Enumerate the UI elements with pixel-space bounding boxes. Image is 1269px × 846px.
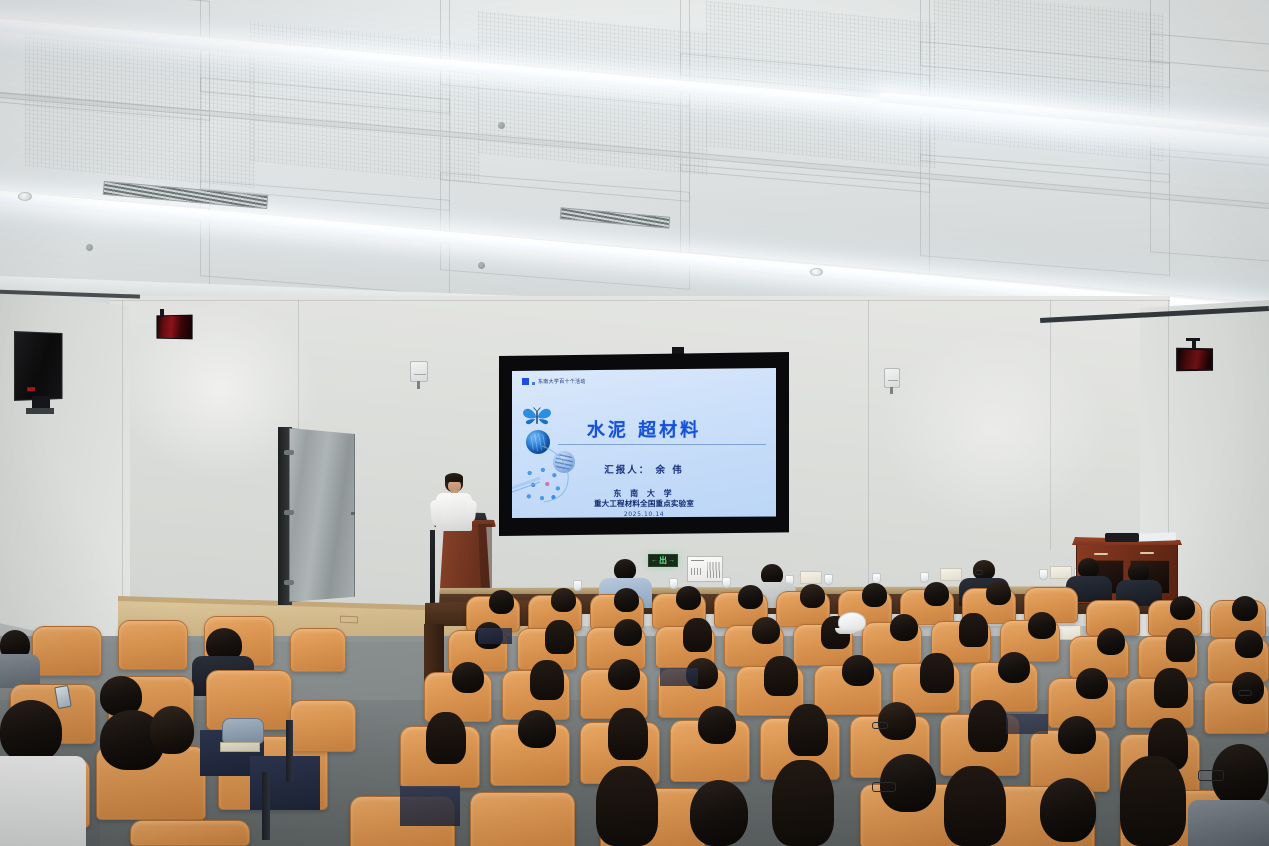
audience-head xyxy=(1097,628,1125,655)
tissue-box xyxy=(800,571,822,584)
auditorium-seat[interactable] xyxy=(118,620,188,670)
exit-arrow-right-icon: → xyxy=(668,557,675,564)
audience-shoulders xyxy=(0,654,40,688)
teacup[interactable] xyxy=(669,578,678,589)
audience-head xyxy=(800,584,825,608)
audience-head xyxy=(608,659,640,690)
seat-leg xyxy=(286,720,293,782)
audience-head-long-hair xyxy=(426,712,466,764)
wall-speaker-stage-right xyxy=(884,368,900,388)
led-mount-right xyxy=(1192,340,1196,349)
exit-arrow-left-icon: ← xyxy=(651,557,658,564)
cabinet-handle[interactable] xyxy=(1094,553,1108,555)
sprinkler-head-3 xyxy=(478,262,485,269)
audience-head xyxy=(924,582,949,606)
audience-head xyxy=(1232,596,1258,621)
audience-shoulders xyxy=(0,756,86,846)
audience-head xyxy=(1028,612,1056,639)
ceiling-dome-light-3 xyxy=(810,268,823,276)
slide-laboratory: 重大工程材料全国重点实验室 xyxy=(512,498,776,509)
audience-head-long-hair xyxy=(545,620,574,654)
audience-head-long-hair xyxy=(530,660,564,700)
exit-sign: ← 出 → xyxy=(648,554,678,567)
audience-head-long-hair xyxy=(1154,668,1188,708)
notebook xyxy=(220,742,260,752)
notice-board xyxy=(687,556,723,582)
audience-head-long-hair xyxy=(1166,628,1195,662)
audience-head xyxy=(150,706,194,754)
seat-base xyxy=(400,786,460,826)
exit-glyph: 出 xyxy=(659,557,667,565)
auditorium-seat[interactable] xyxy=(32,626,102,676)
teacup[interactable] xyxy=(824,574,833,585)
audience-head-long-hair xyxy=(764,656,798,696)
teacup[interactable] xyxy=(573,580,582,591)
projection-screen: 东南大学百十个活动 xyxy=(499,352,789,536)
audience-head xyxy=(878,702,916,740)
led-mount-left xyxy=(160,309,164,317)
audience-head-long-hair xyxy=(968,700,1008,752)
logo-square-small-icon xyxy=(532,382,535,385)
audience-head xyxy=(1040,778,1096,842)
led-display-left xyxy=(156,315,192,340)
audience-head xyxy=(0,700,62,762)
speaker-bracket-left xyxy=(26,408,54,414)
teacup[interactable] xyxy=(722,577,731,588)
audience-head xyxy=(1076,668,1108,699)
seat-base xyxy=(660,668,698,686)
audience-head xyxy=(452,662,484,693)
audience-head-long-hair xyxy=(683,618,712,652)
audience-head xyxy=(842,655,874,686)
door-latch[interactable] xyxy=(351,512,355,515)
door-hinge-top xyxy=(284,450,294,455)
tissue-box xyxy=(1050,566,1072,579)
seat-base xyxy=(1006,714,1048,734)
audience-head xyxy=(1078,558,1099,578)
eyeglasses-icon xyxy=(975,570,983,575)
slide-date: 2025.10.14 xyxy=(512,511,776,518)
eyeglasses-icon xyxy=(872,782,896,792)
teacup[interactable] xyxy=(920,572,929,583)
slide-header-logo: 东南大学百十个活动 xyxy=(522,378,586,385)
auditorium-seat[interactable] xyxy=(290,628,346,672)
sprinkler-head-1 xyxy=(498,122,505,129)
seat-base xyxy=(478,628,512,644)
cap-brim xyxy=(835,628,857,634)
audience-head-long-hair xyxy=(944,766,1006,846)
slide-header-text: 东南大学百十个活动 xyxy=(538,378,586,385)
wall-speaker-left xyxy=(14,331,63,401)
speaker-stem-stage-right xyxy=(890,387,893,394)
eyeglasses-icon xyxy=(1198,770,1224,781)
cabinet-dark-object xyxy=(1105,533,1139,542)
audience-head xyxy=(998,652,1030,683)
logo-square-icon xyxy=(522,378,529,385)
stage-floor-vent xyxy=(340,616,358,624)
tissue-box xyxy=(940,568,962,581)
presenter-left-arm xyxy=(430,500,442,527)
audience-head xyxy=(1128,562,1149,582)
cabinet-handle[interactable] xyxy=(1140,552,1154,554)
door-hinge-bottom xyxy=(284,580,294,585)
teacup[interactable] xyxy=(1039,569,1048,580)
audience-head xyxy=(1235,630,1263,658)
audience-head-long-hair xyxy=(788,704,828,756)
audience-head xyxy=(698,706,736,744)
slide-title: 水泥 超材料 xyxy=(512,416,776,442)
audience-head xyxy=(1170,596,1195,620)
presenter-hair xyxy=(445,473,463,482)
audience-head xyxy=(986,581,1011,605)
audience-head xyxy=(551,588,576,612)
sprinkler-head-2 xyxy=(86,244,93,251)
seat-leg xyxy=(262,772,270,840)
ceiling-dome-light-1 xyxy=(18,192,32,201)
auditorium-seat[interactable] xyxy=(130,820,250,846)
eyeglasses-icon xyxy=(872,722,888,729)
audience-head xyxy=(676,586,701,610)
audience-head xyxy=(738,585,763,609)
wall-speaker-stage-left xyxy=(410,361,428,382)
door-hinge-middle xyxy=(284,510,294,515)
audience-head xyxy=(690,780,748,846)
audience-head xyxy=(518,710,556,748)
audience-head-long-hair xyxy=(959,613,988,647)
audience-head xyxy=(890,614,918,641)
audience-head-long-hair xyxy=(608,708,648,760)
audience-head-long-hair xyxy=(1120,756,1186,846)
audience-shoulders xyxy=(1188,800,1269,846)
speaker-stem-stage-left xyxy=(417,381,420,389)
audience-head xyxy=(614,619,642,646)
auditorium-seat[interactable] xyxy=(470,792,575,846)
eyeglasses-icon xyxy=(1238,690,1252,696)
ceiling xyxy=(0,0,1269,320)
cabinet-papers xyxy=(1136,532,1176,541)
slide-divider xyxy=(558,444,766,445)
audience-head-long-hair xyxy=(596,766,658,846)
auditorium-seat[interactable] xyxy=(290,700,356,752)
stage-metal-door[interactable] xyxy=(289,428,355,602)
audience-head xyxy=(614,588,639,612)
audience-head xyxy=(1058,716,1096,754)
audience-head-long-hair xyxy=(772,760,834,846)
presenter-pointer-shadow xyxy=(430,530,435,608)
slide-presenter-line: 汇报人： 余 伟 xyxy=(512,462,776,476)
led-bracket-right xyxy=(1186,338,1200,341)
seat-base xyxy=(250,756,320,810)
audience-head xyxy=(614,559,636,580)
audience-head xyxy=(1232,672,1264,704)
audience-head xyxy=(489,590,514,614)
audience-head-long-hair xyxy=(920,653,954,693)
lecture-hall-scene: 东南大学百十个活动 xyxy=(0,0,1269,846)
handbag xyxy=(222,718,264,744)
led-display-right xyxy=(1176,348,1213,372)
presentation-slide: 东南大学百十个活动 xyxy=(512,368,776,518)
audience-head xyxy=(862,583,887,607)
audience-head xyxy=(752,617,780,644)
